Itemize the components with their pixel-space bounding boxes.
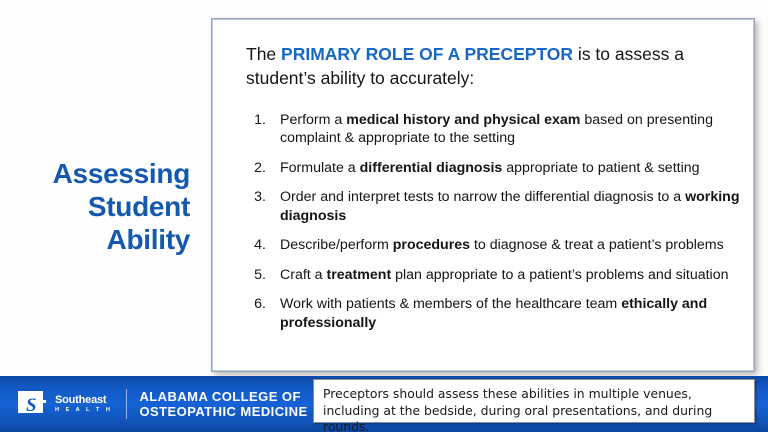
list-item-run: Describe/perform (280, 237, 393, 253)
logo-monogram: S (26, 396, 37, 415)
list-item-run: appropriate to patient & setting (502, 160, 699, 176)
list-item-number: 6. (232, 295, 266, 313)
list-item-emphasis: procedures (393, 237, 470, 253)
list-item-text: Order and interpret tests to narrow the … (280, 189, 739, 223)
list-item-run: Work with patients & members of the heal… (280, 296, 621, 312)
list-item-emphasis: treatment (327, 267, 392, 283)
list-item-text: Formulate a differential diagnosis appro… (280, 160, 700, 176)
organization-name-line-1: ALABAMA COLLEGE OF (139, 389, 307, 404)
list-item-run: Perform a (280, 112, 346, 128)
numbered-list: 1.Perform a medical history and physical… (232, 111, 746, 343)
list-item: 6.Work with patients & members of the he… (232, 295, 746, 332)
list-item-text: Craft a treatment plan appropriate to a … (280, 267, 729, 283)
logo-bar-shape (33, 400, 46, 403)
list-item-emphasis: medical history and physical exam (346, 112, 580, 128)
list-item-run: plan appropriate to a patient’s problems… (391, 267, 728, 283)
list-item-text: Describe/perform procedures to diagnose … (280, 237, 724, 253)
list-item-run: to diagnose & treat a patient’s problems (470, 237, 724, 253)
content-panel: The PRIMARY ROLE OF A PRECEPTOR is to as… (211, 18, 755, 372)
list-item-text: Perform a medical history and physical e… (280, 112, 713, 146)
list-item-run: Formulate a (280, 160, 360, 176)
southeast-health-logo-icon: S (18, 391, 49, 418)
list-item-emphasis: differential diagnosis (360, 160, 503, 176)
list-item-number: 3. (232, 188, 266, 206)
list-item-number: 5. (232, 266, 266, 284)
list-item: 4.Describe/perform procedures to diagnos… (232, 236, 746, 254)
list-item: 5.Craft a treatment plan appropriate to … (232, 266, 746, 284)
logo-subtitle: H E A L T H (55, 408, 112, 414)
page-title-line-2: Student (8, 191, 190, 224)
panel-heading: The PRIMARY ROLE OF A PRECEPTOR is to as… (246, 43, 726, 90)
list-item: 1.Perform a medical history and physical… (232, 111, 746, 148)
list-item-run: Craft a (280, 267, 327, 283)
page-title-line-1: Assessing (8, 158, 190, 191)
slide-canvas: AssessingStudentAbility The PRIMARY ROLE… (0, 0, 768, 432)
page-title: AssessingStudentAbility (8, 158, 190, 256)
heading-highlight: PRIMARY ROLE OF A PRECEPTOR (281, 44, 573, 64)
list-item-number: 2. (232, 159, 266, 177)
list-item-text: Work with patients & members of the heal… (280, 296, 707, 330)
logo-divider (126, 389, 127, 419)
list-item-number: 4. (232, 236, 266, 254)
page-title-line-3: Ability (8, 224, 190, 257)
footer-branding: S Southeast H E A L T H ALABAMA COLLEGE … (18, 384, 308, 424)
organization-name: ALABAMA COLLEGE OFOSTEOPATHIC MEDICINE (139, 389, 307, 420)
list-item: 2.Formulate a differential diagnosis app… (232, 159, 746, 177)
list-item-number: 1. (232, 111, 266, 129)
list-item-run: Order and interpret tests to narrow the … (280, 189, 685, 205)
logo-wordmark: Southeast H E A L T H (55, 395, 112, 414)
heading-text-before: The (246, 44, 281, 64)
list-item: 3.Order and interpret tests to narrow th… (232, 188, 746, 225)
logo-name: Southeast (55, 395, 112, 406)
caption-box: Preceptors should assess these abilities… (313, 379, 755, 423)
caption-text: Preceptors should assess these abilities… (323, 386, 747, 432)
organization-name-line-2: OSTEOPATHIC MEDICINE (139, 404, 307, 419)
